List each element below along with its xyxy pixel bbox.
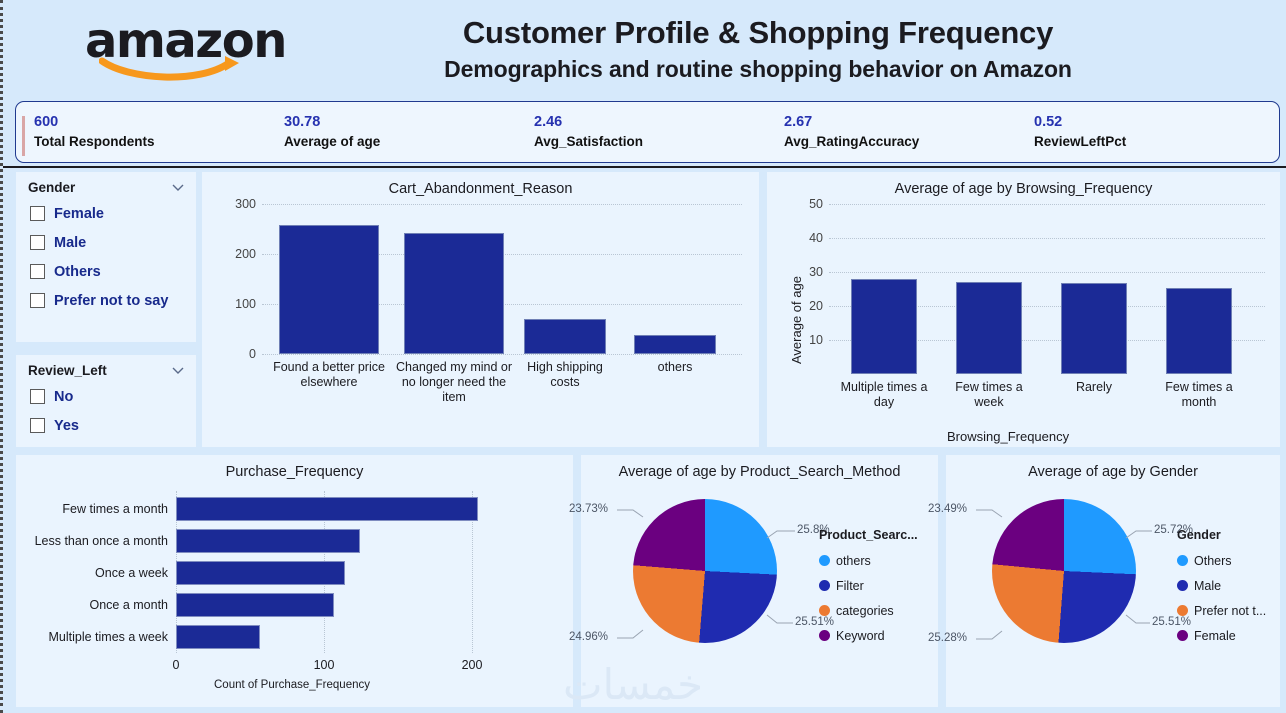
pie-area[interactable] [633, 499, 777, 643]
chart-average-age-by-browsing-frequency[interactable]: Average of age by Browsing_Frequency Ave… [767, 172, 1280, 447]
legend-item-categories[interactable]: categories [819, 598, 918, 623]
x-axis-title: Browsing_Frequency [947, 429, 1069, 444]
page-title: Customer Profile & Shopping Frequency [258, 12, 1258, 54]
bar[interactable] [851, 279, 917, 374]
x-tick-label: others [622, 360, 728, 375]
amazon-smile-icon [99, 54, 245, 82]
slicer-item-prefer-not-to-say[interactable]: Prefer not to say [16, 286, 196, 315]
legend-swatch [819, 630, 830, 641]
bar[interactable] [176, 561, 345, 585]
x-tick-label: High shipping costs [512, 360, 618, 390]
chevron-down-icon[interactable] [172, 367, 184, 374]
checkbox-yes[interactable] [30, 418, 45, 433]
legend-item-others[interactable]: Others [1177, 548, 1266, 573]
slicer-item-label: No [54, 389, 73, 405]
legend-label: Filter [836, 579, 864, 593]
pie-pct-label: 23.49% [928, 503, 967, 515]
y-tick: 20 [809, 299, 823, 313]
x-tick-label: Changed my mind or no longer need the it… [392, 360, 516, 405]
pie-legend: Product_Searc... others Filter categorie… [819, 528, 918, 648]
bar[interactable] [524, 319, 606, 354]
slicer-review-left: Review_Left No Yes [16, 355, 196, 447]
bar[interactable] [1166, 288, 1232, 374]
title-block: Customer Profile & Shopping Frequency De… [258, 12, 1258, 84]
chart-title: Average of age by Product_Search_Method [581, 455, 938, 482]
slicer-item-label: Male [54, 235, 86, 251]
legend-item-filter[interactable]: Filter [819, 573, 918, 598]
amazon-logo: amazon [85, 16, 253, 84]
legend-label: Prefer not t... [1194, 604, 1266, 618]
x-tick: 100 [314, 658, 335, 672]
slicer-item-label: Others [54, 264, 101, 280]
kpi-label: Avg_RatingAccuracy [784, 132, 1016, 152]
pie-pct-label: 23.73% [569, 503, 608, 515]
slicer-gender-header[interactable]: Gender [16, 172, 196, 199]
gridline [262, 354, 742, 355]
slicer-gender: Gender Female Male Others Prefer not to … [16, 172, 196, 342]
legend-title: Product_Searc... [819, 528, 918, 542]
kpi-card-average-of-age: 30.78 Average of age [266, 112, 516, 152]
kpi-value: 2.67 [784, 112, 1016, 132]
x-tick: 200 [462, 658, 483, 672]
legend-label: Others [1194, 554, 1232, 568]
y-tick-label: Less than once a month [35, 534, 168, 548]
slicer-item-label: Female [54, 206, 104, 222]
y-tick: 40 [809, 231, 823, 245]
kpi-card-reviewleftpct: 0.52 ReviewLeftPct [1016, 112, 1266, 152]
gridline [262, 204, 742, 205]
plot-area: 0 100 200 300 Found a better price elsew… [262, 204, 742, 354]
checkbox-others[interactable] [30, 264, 45, 279]
x-tick-label: Multiple times a day [837, 380, 931, 410]
checkbox-female[interactable] [30, 206, 45, 221]
kpi-value: 600 [34, 112, 266, 132]
pie-pct-label: 24.96% [569, 631, 608, 643]
checkbox-male[interactable] [30, 235, 45, 250]
legend-label: others [836, 554, 871, 568]
chart-title: Cart_Abandonment_Reason [202, 172, 759, 199]
legend-item-female[interactable]: Female [1177, 623, 1266, 648]
legend-swatch [819, 555, 830, 566]
plot-area: 10 20 30 40 50 Multiple times a day Few … [829, 204, 1265, 374]
chart-purchase-frequency[interactable]: Purchase_Frequency Few times a month Les… [16, 455, 573, 707]
kpi-value: 2.46 [534, 112, 766, 132]
y-tick: 0 [249, 347, 256, 361]
kpi-value: 0.52 [1034, 112, 1266, 132]
slicer-item-label: Prefer not to say [54, 293, 168, 309]
kpi-card-avg-ratingaccuracy: 2.67 Avg_RatingAccuracy [766, 112, 1016, 152]
y-tick: 200 [235, 247, 256, 261]
legend-item-keyword[interactable]: Keyword [819, 623, 918, 648]
gridline [829, 238, 1265, 239]
y-tick-label: Once a month [89, 598, 168, 612]
plot-area: Few times a month Less than once a month… [176, 491, 494, 653]
pie-slices[interactable] [992, 499, 1136, 643]
watermark: خمسات [563, 660, 703, 709]
gridline [829, 272, 1265, 273]
y-tick: 10 [809, 333, 823, 347]
checkbox-no[interactable] [30, 389, 45, 404]
gridline [829, 204, 1265, 205]
legend-swatch [1177, 580, 1188, 591]
y-tick: 50 [809, 197, 823, 211]
x-tick: 0 [173, 658, 180, 672]
slicer-review-left-header[interactable]: Review_Left [16, 355, 196, 382]
bar[interactable] [176, 593, 334, 617]
legend-label: Male [1194, 579, 1221, 593]
y-tick: 300 [235, 197, 256, 211]
y-axis-title: Average of age [789, 276, 804, 364]
y-tick-label: Once a week [95, 566, 168, 580]
legend-label: categories [836, 604, 894, 618]
slicer-item-label: Yes [54, 418, 79, 434]
dashboard-header: amazon Customer Profile & Shopping Frequ… [3, 0, 1286, 97]
pie-legend: Gender Others Male Prefer not t... Femal… [1177, 528, 1266, 648]
legend-item-prefer-not-to-say[interactable]: Prefer not t... [1177, 598, 1266, 623]
kpi-card-total-respondents: 600 Total Respondents [16, 112, 266, 152]
slicer-item-yes[interactable]: Yes [16, 411, 196, 440]
header-divider [3, 166, 1286, 168]
chevron-down-icon[interactable] [172, 184, 184, 191]
legend-swatch [1177, 555, 1188, 566]
legend-label: Keyword [836, 629, 885, 643]
kpi-value: 30.78 [284, 112, 516, 132]
checkbox-prefer-not-to-say[interactable] [30, 293, 45, 308]
kpi-label: Avg_Satisfaction [534, 132, 766, 152]
y-tick-label: Multiple times a week [49, 630, 169, 644]
bar[interactable] [176, 625, 260, 649]
slicer-item-female[interactable]: Female [16, 199, 196, 228]
pie-slices[interactable] [633, 499, 777, 643]
slicer-item-others[interactable]: Others [16, 257, 196, 286]
legend-swatch [1177, 605, 1188, 616]
dashboard-page: amazon Customer Profile & Shopping Frequ… [0, 0, 1286, 713]
legend-swatch [819, 605, 830, 616]
slicer-item-no[interactable]: No [16, 382, 196, 411]
x-tick-label: Found a better price elsewhere [267, 360, 391, 390]
kpi-label: Average of age [284, 132, 516, 152]
slicer-review-left-title: Review_Left [28, 363, 107, 378]
kpi-card-avg-satisfaction: 2.46 Avg_Satisfaction [516, 112, 766, 152]
bar[interactable] [634, 335, 716, 354]
slicer-item-male[interactable]: Male [16, 228, 196, 257]
x-tick-label: Few times a month [1152, 380, 1246, 410]
chart-cart-abandonment-reason[interactable]: Cart_Abandonment_Reason 0 100 200 300 Fo… [202, 172, 759, 447]
legend-swatch [819, 580, 830, 591]
chart-average-age-by-gender[interactable]: Average of age by Gender 25.72% 25.51% 2… [946, 455, 1280, 707]
bar[interactable] [176, 497, 478, 521]
y-tick: 30 [809, 265, 823, 279]
kpi-label: ReviewLeftPct [1034, 132, 1266, 152]
chart-title: Average of age by Gender [946, 455, 1280, 482]
pie-pct-label: 25.28% [928, 632, 967, 644]
legend-item-others[interactable]: others [819, 548, 918, 573]
legend-title: Gender [1177, 528, 1266, 542]
bar[interactable] [404, 233, 504, 354]
x-tick-label: Few times a week [942, 380, 1036, 410]
legend-item-male[interactable]: Male [1177, 573, 1266, 598]
bar[interactable] [176, 529, 360, 553]
pie-area[interactable] [992, 499, 1136, 643]
bar[interactable] [1061, 283, 1127, 374]
y-tick: 100 [235, 297, 256, 311]
page-subtitle: Demographics and routine shopping behavi… [258, 54, 1258, 84]
x-axis-title: Count of Purchase_Frequency [214, 679, 370, 691]
kpi-label: Total Respondents [34, 132, 266, 152]
chart-title: Purchase_Frequency [16, 455, 573, 482]
chart-title: Average of age by Browsing_Frequency [767, 172, 1280, 199]
legend-swatch [1177, 630, 1188, 641]
bar[interactable] [956, 282, 1022, 374]
slicer-gender-title: Gender [28, 180, 75, 195]
kpi-bar: 600 Total Respondents 30.78 Average of a… [15, 101, 1280, 163]
legend-label: Female [1194, 629, 1236, 643]
y-tick-label: Few times a month [62, 502, 168, 516]
x-tick-label: Rarely [1047, 380, 1141, 395]
bar[interactable] [279, 225, 379, 354]
